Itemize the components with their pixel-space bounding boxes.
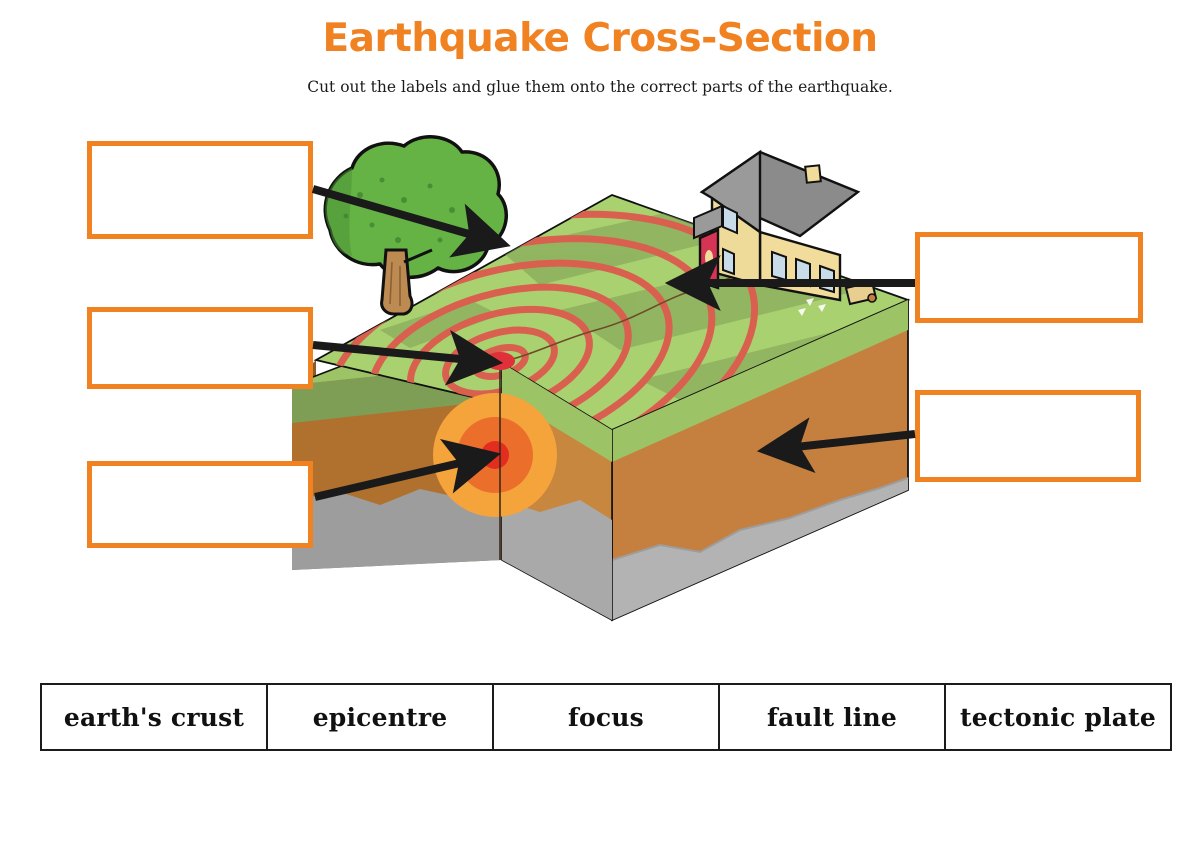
epicentre-marker bbox=[485, 352, 515, 370]
answer-box-tectonic-plate[interactable] bbox=[915, 390, 1141, 482]
worksheet-page: Earthquake Cross-Section Cut out the lab… bbox=[0, 0, 1200, 849]
word-bank-cell[interactable]: focus bbox=[494, 685, 720, 749]
word-bank-cell[interactable]: earth's crust bbox=[42, 685, 268, 749]
answer-box-earths-crust[interactable] bbox=[87, 141, 313, 239]
answer-box-epicentre[interactable] bbox=[87, 307, 313, 389]
word-bank-cell[interactable]: epicentre bbox=[268, 685, 494, 749]
answer-box-fault-line[interactable] bbox=[915, 232, 1143, 323]
focus-burst bbox=[433, 393, 557, 517]
word-bank: earth's crust epicentre focus fault line… bbox=[40, 683, 1172, 751]
word-bank-cell[interactable]: tectonic plate bbox=[946, 685, 1170, 749]
answer-box-focus[interactable] bbox=[87, 461, 313, 548]
word-bank-cell[interactable]: fault line bbox=[720, 685, 946, 749]
